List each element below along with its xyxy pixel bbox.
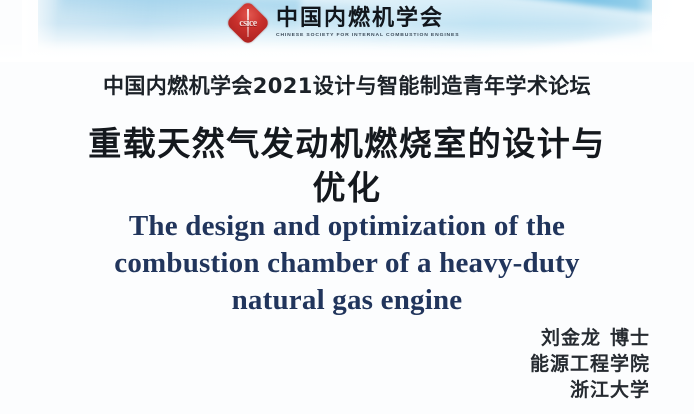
logo-monogram: csice xyxy=(228,3,268,43)
title-chinese-line-2: 优化 xyxy=(40,166,654,210)
society-name-chinese: 中国内燃机学会 xyxy=(276,8,459,30)
society-lockup: csice 中国内燃机学会 CHINESE SOCIETY FOR INTERN… xyxy=(228,3,459,43)
presentation-slide: csice 中国内燃机学会 CHINESE SOCIETY FOR INTERN… xyxy=(0,0,694,414)
title-english-line-2: combustion chamber of a heavy-duty xyxy=(20,245,674,282)
presenter-affiliation-block: 刘金龙博士 能源工程学院 浙江大学 xyxy=(530,326,650,403)
society-name-english: CHINESE SOCIETY FOR INTERNAL COMBUSTION … xyxy=(276,33,459,38)
presenter-degree: 博士 xyxy=(610,327,650,349)
presentation-title-chinese: 重载天然气发动机燃烧室的设计与 优化 xyxy=(40,122,654,209)
presenter-name-row: 刘金龙博士 xyxy=(530,326,650,352)
presenter-name: 刘金龙 xyxy=(541,327,601,349)
banner-bottom-fade xyxy=(0,40,694,62)
title-english-line-3: natural gas engine xyxy=(20,282,674,319)
title-english-line-1: The design and optimization of the xyxy=(20,208,674,245)
title-chinese-line-1: 重载天然气发动机燃烧室的设计与 xyxy=(40,122,654,166)
csice-diamond-logo-icon: csice xyxy=(228,3,268,43)
presentation-title-english: The design and optimization of the combu… xyxy=(20,208,674,319)
society-name-group: 中国内燃机学会 CHINESE SOCIETY FOR INTERNAL COM… xyxy=(276,8,459,38)
presenter-institution: 浙江大学 xyxy=(530,378,650,404)
forum-title-line: 中国内燃机学会2021设计与智能制造青年学术论坛 xyxy=(0,70,694,100)
presenter-department: 能源工程学院 xyxy=(530,352,650,378)
